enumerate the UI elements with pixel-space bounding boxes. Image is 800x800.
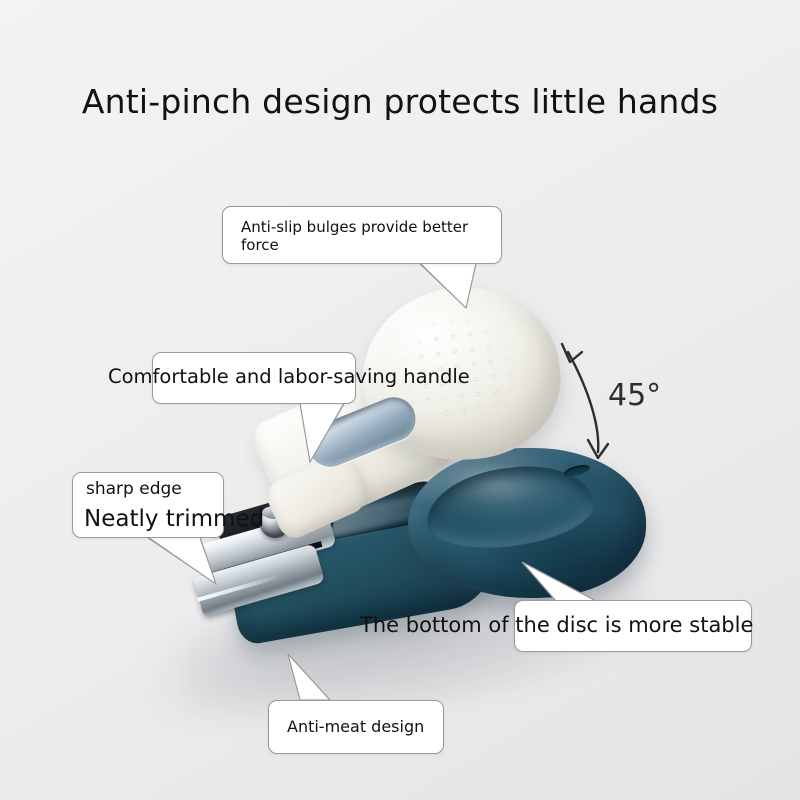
blue-body-slot xyxy=(250,478,450,555)
jaw-gap xyxy=(202,541,323,581)
callout-anti-slip-bulges-label: Anti-slip bulges provide better force xyxy=(241,218,489,254)
callout-sharp-edge-label-line2: Neatly trimmed xyxy=(84,506,264,532)
blue-body-highlight xyxy=(250,484,466,554)
blade-sharp-edge xyxy=(197,574,281,602)
callout-anti-meat-design[interactable]: Anti-meat design xyxy=(268,700,444,754)
page-title: Anti-pinch design protects little hands xyxy=(0,82,800,121)
product-infographic: Anti-pinch design protects little hands xyxy=(0,0,800,800)
jaw-pivot-rivet xyxy=(260,508,290,538)
blue-body-disc xyxy=(408,448,646,598)
clipper-white-handle xyxy=(262,288,562,566)
callout-comfortable-handle-label: Comfortable and labor-saving handle xyxy=(108,365,470,388)
callout-stable-disc-label: The bottom of the disc is more stable xyxy=(360,613,753,637)
callout-anti-meat-design-label: Anti-meat design xyxy=(287,717,424,736)
jaw-pivot-rivet-top xyxy=(262,506,288,519)
white-handle-tip xyxy=(262,449,374,543)
jaw-lower-blade xyxy=(193,543,325,616)
angle-45-degrees-label: 45° xyxy=(608,378,661,413)
blue-body-scoop xyxy=(422,458,598,556)
callout-sharp-edge-label-line1: sharp edge xyxy=(86,479,182,499)
callout-anti-slip-bulges[interactable]: Anti-slip bulges provide better force xyxy=(222,206,502,264)
blue-body-notch xyxy=(563,463,590,478)
